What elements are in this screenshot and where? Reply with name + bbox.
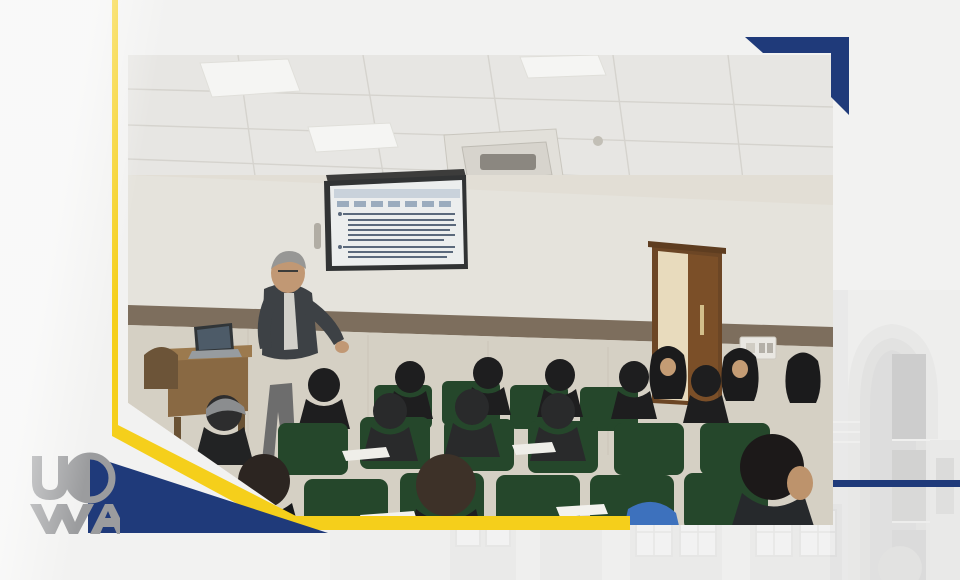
poster-canvas	[0, 0, 960, 580]
uowa-logo	[28, 452, 120, 534]
yellow-vertical-rule	[112, 0, 118, 433]
bottom-left-triangle	[88, 455, 328, 533]
top-right-corner-bracket	[745, 37, 849, 115]
